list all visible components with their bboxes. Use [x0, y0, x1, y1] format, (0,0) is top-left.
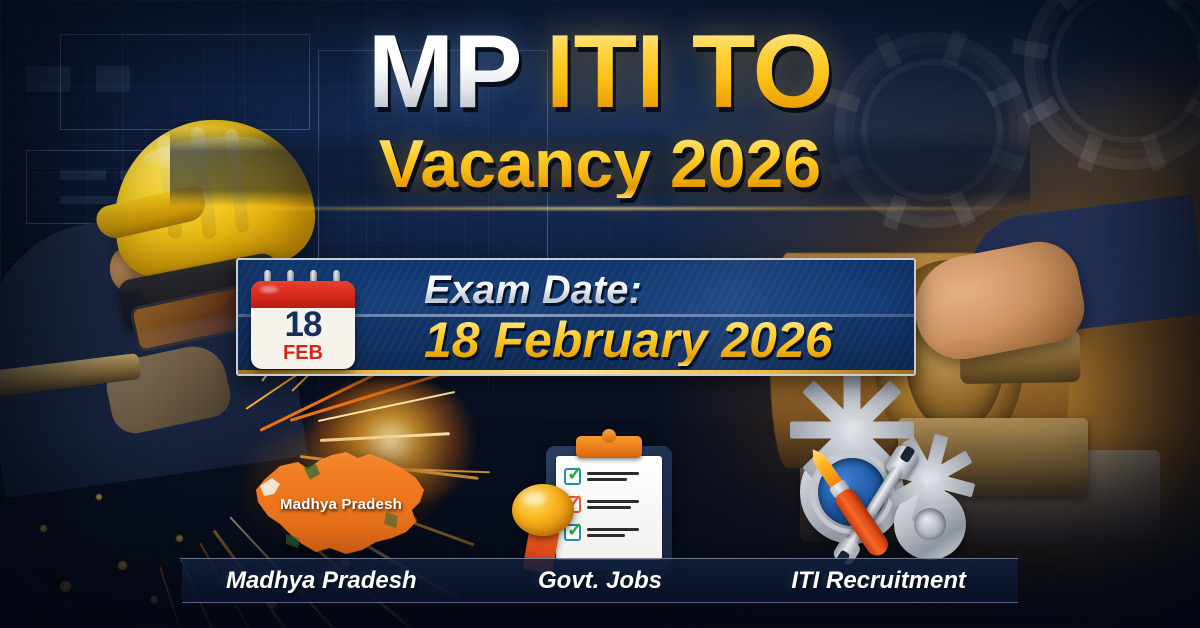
label-madhya-pradesh: Madhya Pradesh [182, 567, 461, 595]
calendar-card: 18 FEB [251, 281, 355, 369]
title-line-2: Vacancy 2026 [0, 130, 1200, 198]
title-iti-to: ITI TO [546, 14, 833, 130]
map-overlay-label: Madhya Pradesh [246, 496, 436, 513]
checklist-lines [587, 500, 639, 509]
label-iti-recruitment: ITI Recruitment [739, 567, 1018, 595]
exam-date-value: 18 February 2026 [424, 314, 898, 367]
title-mp: MP [368, 14, 522, 130]
exam-date-label: Exam Date: [424, 270, 898, 311]
gears-tools-icon [790, 436, 976, 568]
calendar-day: 18 [251, 307, 355, 342]
promo-banner: MPITI TO Vacancy 2026 18 FEB Exam Date: … [0, 0, 1200, 628]
medal-disc [512, 484, 574, 536]
title-line-1: MPITI TO [0, 22, 1200, 124]
madhya-pradesh-map-icon: Madhya Pradesh [246, 438, 436, 560]
checklist-row: ✓ [564, 468, 639, 485]
panel-gold-edge [238, 370, 914, 374]
checkbox-icon: ✓ [564, 468, 581, 485]
checklist-lines [587, 528, 639, 537]
title-block: MPITI TO Vacancy 2026 [0, 22, 1200, 198]
clipboard-clip [576, 436, 642, 458]
checklist-lines [587, 472, 639, 481]
exam-text-block: Exam Date: 18 February 2026 [424, 260, 898, 374]
calendar-header-band [251, 281, 355, 308]
calendar-icon: 18 FEB [246, 270, 360, 370]
exam-date-panel: 18 FEB Exam Date: 18 February 2026 [236, 258, 916, 376]
label-govt-jobs: Govt. Jobs [461, 567, 740, 595]
bottom-label-bar: Madhya Pradesh Govt. Jobs ITI Recruitmen… [182, 558, 1018, 603]
gear-small-hub [914, 508, 946, 540]
calendar-month: FEB [251, 343, 355, 363]
